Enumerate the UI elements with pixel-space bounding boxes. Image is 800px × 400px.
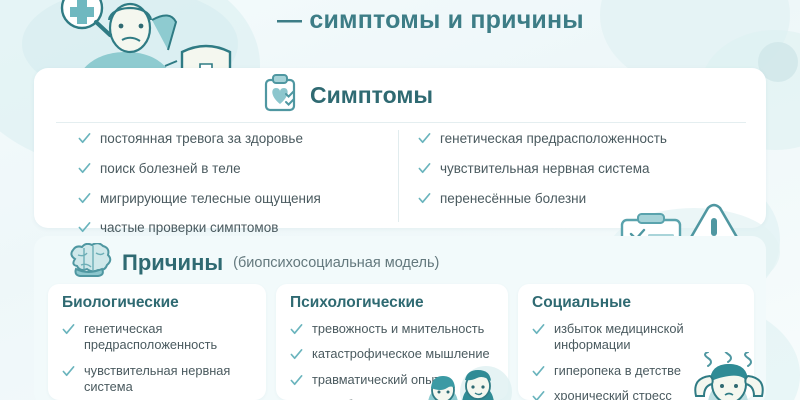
check-icon <box>418 192 431 205</box>
causes-card-title: Психологические <box>290 294 496 312</box>
list-item: мигрирующие телесные ощущения <box>78 190 388 208</box>
list-item-label: частые проверки симптомов <box>100 219 278 237</box>
symptoms-header: Симптомы <box>262 74 433 117</box>
symptoms-left-column: постоянная тревога за здоровье поиск бол… <box>78 130 388 249</box>
symptoms-right-column: генетическая предрасположенность чувстви… <box>418 130 738 219</box>
list-item: перенесённые болезни <box>418 190 738 208</box>
list-item: катастрофическое мышление <box>290 346 496 362</box>
causes-heading: Причины <box>122 250 223 276</box>
list-item: частые проверки симптомов <box>78 219 388 237</box>
list-item: чувствительная нервная система <box>62 363 254 396</box>
list-item-label: гиперопека в детстве <box>554 363 681 379</box>
causes-header: Причины (биопсихосоциальная модель) <box>66 243 439 282</box>
list-item-label: избыток медицинской информации <box>554 321 742 354</box>
list-item-label: чувствительная нервная система <box>84 363 254 396</box>
check-icon <box>290 374 303 387</box>
check-icon <box>532 323 545 336</box>
brain-icon <box>66 243 112 282</box>
list-item-label: травматический опыт <box>312 372 440 388</box>
check-icon <box>418 162 431 175</box>
list-item: поиск болезней в теле <box>78 160 388 178</box>
list-item: хронический стресс <box>532 388 742 400</box>
list-item-label: мигрирующие телесные ощущения <box>100 190 321 208</box>
list-item-label: постоянная тревога за здоровье <box>100 130 303 148</box>
list-item: гиперопека в детстве <box>532 363 742 379</box>
check-icon <box>290 323 303 336</box>
check-icon <box>78 192 91 205</box>
list-item-label: поиск болезней в теле <box>100 160 241 178</box>
check-icon <box>532 390 545 400</box>
list-item: травматический опыт <box>290 372 496 388</box>
causes-card-social: Социальные избыток медицинской информаци… <box>518 284 754 400</box>
list-item: тревожность и мнительность <box>290 321 496 337</box>
causes-card-psychological: Психологические тревожность и мнительнос… <box>276 284 508 400</box>
causes-card-biological: Биологические генетическая предрасположе… <box>48 284 266 400</box>
check-icon <box>290 348 303 361</box>
check-icon <box>78 132 91 145</box>
check-icon <box>62 365 75 378</box>
list-item: постоянная тревога за здоровье <box>78 130 388 148</box>
symptoms-divider-horizontal <box>56 122 746 123</box>
check-icon <box>78 162 91 175</box>
list-item: чувствительная нервная система <box>418 160 738 178</box>
list-item-label: хронический стресс <box>554 388 672 400</box>
causes-card-title: Социальные <box>532 294 742 312</box>
list-item-label: чувствительная нервная система <box>440 160 650 178</box>
check-icon <box>78 221 91 234</box>
list-item: генетическая предрасположенность <box>62 321 254 354</box>
list-item-label: генетическая предрасположенность <box>84 321 254 354</box>
causes-subtitle: (биопсихосоциальная модель) <box>233 255 439 271</box>
list-item-label: катастрофическое мышление <box>312 346 490 362</box>
list-item-label: перенесённые болезни <box>440 190 586 208</box>
list-item-label: генетическая предрасположенность <box>440 130 667 148</box>
list-item: избыток медицинской информации <box>532 321 742 354</box>
infographic-canvas: — симптомы и причины Симптомы постоянная… <box>0 0 800 400</box>
causes-columns: Биологические генетическая предрасположе… <box>48 284 754 400</box>
check-icon <box>532 365 545 378</box>
clipboard-heart-icon <box>262 74 298 117</box>
list-item-label: тревожность и мнительность <box>312 321 484 337</box>
symptoms-heading: Симптомы <box>310 82 433 109</box>
page-title: — симптомы и причины <box>277 6 584 35</box>
causes-card-title: Биологические <box>62 294 254 312</box>
list-item: генетическая предрасположенность <box>418 130 738 148</box>
check-icon <box>418 132 431 145</box>
check-icon <box>62 323 75 336</box>
symptoms-divider-vertical <box>398 130 399 222</box>
